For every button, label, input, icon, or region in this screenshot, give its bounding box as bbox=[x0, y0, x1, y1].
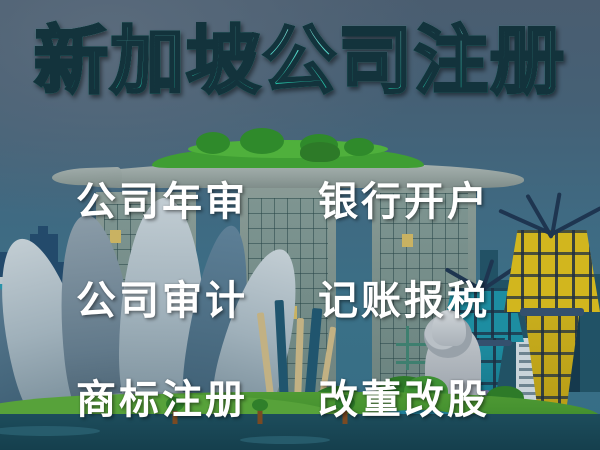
singapore-company-registration-banner: 新加坡公司注册 公司年审 银行开户 公司审计 记账报税 商标注册 改董改股 bbox=[0, 0, 600, 450]
service-list: 公司年审 银行开户 公司审计 记账报税 商标注册 改董改股 bbox=[0, 152, 600, 450]
tree-cluster bbox=[300, 142, 340, 162]
service-item-annual-review[interactable]: 公司年审 bbox=[0, 179, 300, 225]
service-item-director-shares[interactable]: 改董改股 bbox=[300, 377, 600, 423]
rooftop-tree bbox=[344, 138, 374, 156]
rooftop-tree bbox=[196, 132, 230, 154]
trellis-post bbox=[406, 326, 409, 370]
rooftop-tree bbox=[240, 128, 284, 154]
service-item-trademark[interactable]: 商标注册 bbox=[0, 377, 300, 423]
tower-gold-window bbox=[110, 230, 121, 243]
skyline-building bbox=[38, 226, 48, 244]
service-item-bank-account[interactable]: 银行开户 bbox=[300, 179, 600, 225]
tower-gold-window bbox=[402, 234, 413, 247]
service-item-company-audit[interactable]: 公司审计 bbox=[0, 278, 300, 324]
water-highlight bbox=[240, 436, 330, 444]
service-item-bookkeeping-tax[interactable]: 记账报税 bbox=[300, 278, 600, 324]
